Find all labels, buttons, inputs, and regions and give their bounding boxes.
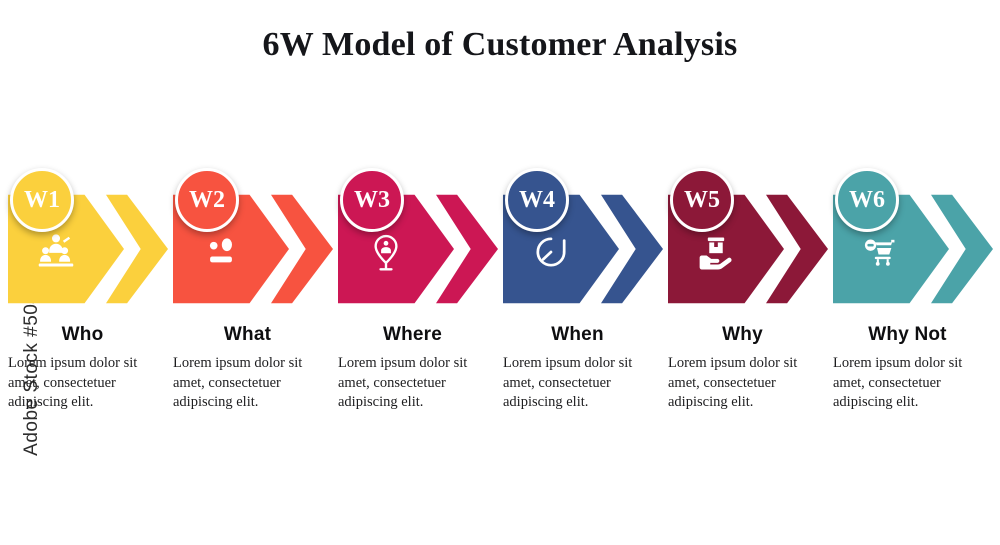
step-body-1: Lorem ipsum dolor sit amet, consectetuer… <box>8 354 158 413</box>
step-badge-4[interactable]: W4 <box>505 168 569 232</box>
page-title: 6W Model of Customer Analysis <box>0 26 1000 64</box>
step-badge-label-2: W2 <box>189 188 225 212</box>
step-heading-4: When <box>495 324 660 346</box>
step-body-2: Lorem ipsum dolor sit amet, consectetuer… <box>173 354 323 413</box>
step-body-6: Lorem ipsum dolor sit amet, consectetuer… <box>833 354 983 413</box>
step-body-5: Lorem ipsum dolor sit amet, consectetuer… <box>668 354 818 413</box>
step-badge-3[interactable]: W3 <box>340 168 404 232</box>
step-badge-label-6: W6 <box>849 188 885 212</box>
step-heading-3: Where <box>330 324 495 346</box>
step-badge-label-3: W3 <box>354 188 390 212</box>
step-1[interactable]: W1 Who Lorem ipsum dolor sit amet, conse… <box>0 168 165 498</box>
clock-timer-icon <box>529 230 573 274</box>
step-6[interactable]: W6 Why Not Lorem ipsum dolor sit amet, <box>825 168 990 498</box>
step-heading-5: Why <box>660 324 825 346</box>
shopping-cart-minus-icon <box>859 230 903 274</box>
step-4[interactable]: W4 When Lorem ipsum dolor sit amet, cons… <box>495 168 660 498</box>
step-body-3: Lorem ipsum dolor sit amet, consectetuer… <box>338 354 488 413</box>
step-3[interactable]: W3 Where Lorem ipsum dolor sit amet, con… <box>330 168 495 498</box>
step-heading-1: Who <box>0 324 165 346</box>
step-badge-2[interactable]: W2 <box>175 168 239 232</box>
step-body-4: Lorem ipsum dolor sit amet, consectetuer… <box>503 354 653 413</box>
map-pin-person-icon <box>364 230 408 274</box>
step-badge-5[interactable]: W5 <box>670 168 734 232</box>
infographic-canvas: 6W Model of Customer Analysis Adobe Stoc… <box>0 0 1000 545</box>
step-2[interactable]: W2 What Lorem ipsum dolor sit amet, cons… <box>165 168 330 498</box>
step-badge-label-4: W4 <box>519 188 555 212</box>
step-badge-6[interactable]: W6 <box>835 168 899 232</box>
step-badge-1[interactable]: W1 <box>10 168 74 232</box>
steps-row: W1 Who Lorem ipsum dolor sit amet, conse… <box>0 168 1000 498</box>
step-badge-label-5: W5 <box>684 188 720 212</box>
hand-holding-box-icon <box>694 230 738 274</box>
step-badge-label-1: W1 <box>24 188 60 212</box>
step-5[interactable]: W5 Why Lorem ipsum dolor sit amet, conse… <box>660 168 825 498</box>
survey-question-icon <box>199 230 243 274</box>
step-heading-6: Why Not <box>825 324 990 346</box>
step-heading-2: What <box>165 324 330 346</box>
presentation-audience-icon <box>34 230 78 274</box>
